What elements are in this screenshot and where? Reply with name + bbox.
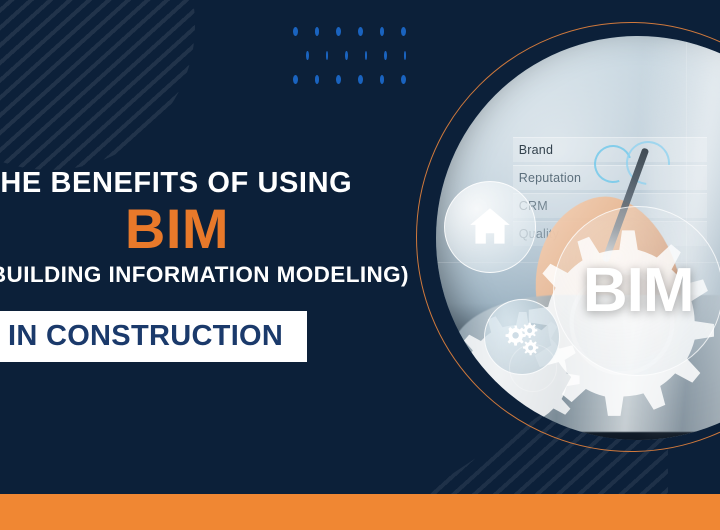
dot (345, 51, 348, 60)
bim-badge: BIM (553, 206, 720, 376)
dot (293, 27, 298, 36)
network-circle-icon (509, 344, 557, 392)
dot (293, 75, 298, 84)
dot (401, 75, 406, 84)
dot (306, 51, 309, 60)
dot-row (293, 75, 423, 99)
bim-photo-word: BIM (583, 255, 694, 326)
dot (336, 27, 341, 36)
dot (315, 27, 320, 36)
house-badge (444, 181, 536, 273)
dot (404, 51, 407, 60)
dot (326, 51, 329, 60)
house-icon (463, 202, 517, 252)
dot (358, 27, 363, 36)
headline-line-3: (BUILDING INFORMATION MODELING) (0, 263, 420, 288)
headline-keyword: BIM (0, 198, 372, 261)
dot (336, 75, 341, 84)
bim-promo-banner: Brand Reputation CRM Quality (0, 0, 720, 530)
dot-row (293, 27, 423, 51)
striped-circle-decoration (0, 0, 195, 170)
dot-grid-decoration (293, 27, 423, 89)
headline-line-1: THE BENEFITS OF USING (0, 168, 420, 198)
dot (358, 75, 363, 84)
bim-technology-photo: Brand Reputation CRM Quality (436, 36, 720, 440)
dot-row (306, 51, 423, 75)
dot (384, 51, 387, 60)
dot (315, 75, 320, 84)
highlight-text: IN CONSTRUCTION (8, 320, 283, 353)
bottom-orange-bar (0, 494, 720, 530)
dot (365, 51, 368, 60)
dot (380, 75, 385, 84)
highlight-banner: IN CONSTRUCTION (0, 311, 307, 362)
dot (401, 27, 406, 36)
dot (380, 27, 385, 36)
headline-block: THE BENEFITS OF USING BIM (BUILDING INFO… (0, 168, 420, 288)
